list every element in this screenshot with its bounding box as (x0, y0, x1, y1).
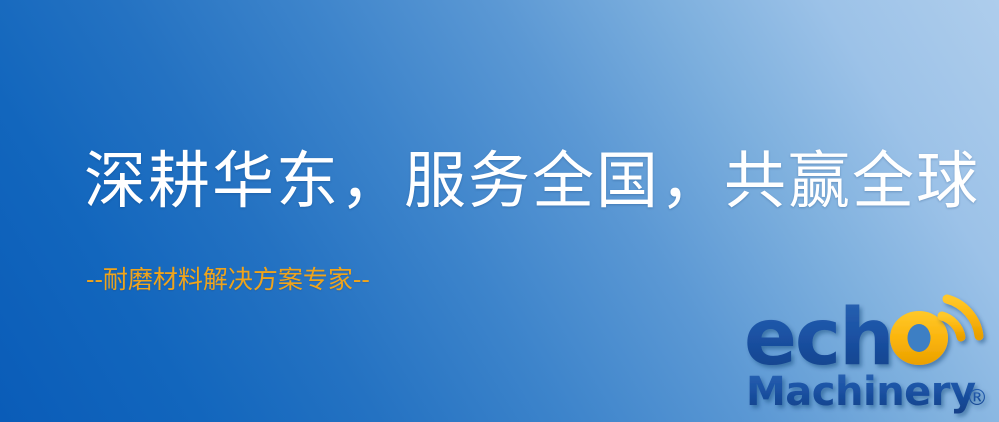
banner-headline: 深耕华东，服务全国，共赢全球 (84, 150, 980, 212)
logo-tagline: Machinery ® (746, 369, 988, 415)
company-logo[interactable]: ech Machinery ® (744, 292, 999, 422)
banner-subtitle: --耐磨材料解决方案专家-- (86, 266, 370, 294)
svg-text:Machinery: Machinery (746, 369, 976, 415)
promo-banner: 深耕华东，服务全国，共赢全球 --耐磨材料解决方案专家-- (0, 0, 999, 422)
signal-waves-icon (942, 299, 979, 337)
registered-trademark-icon: ® (966, 386, 988, 411)
